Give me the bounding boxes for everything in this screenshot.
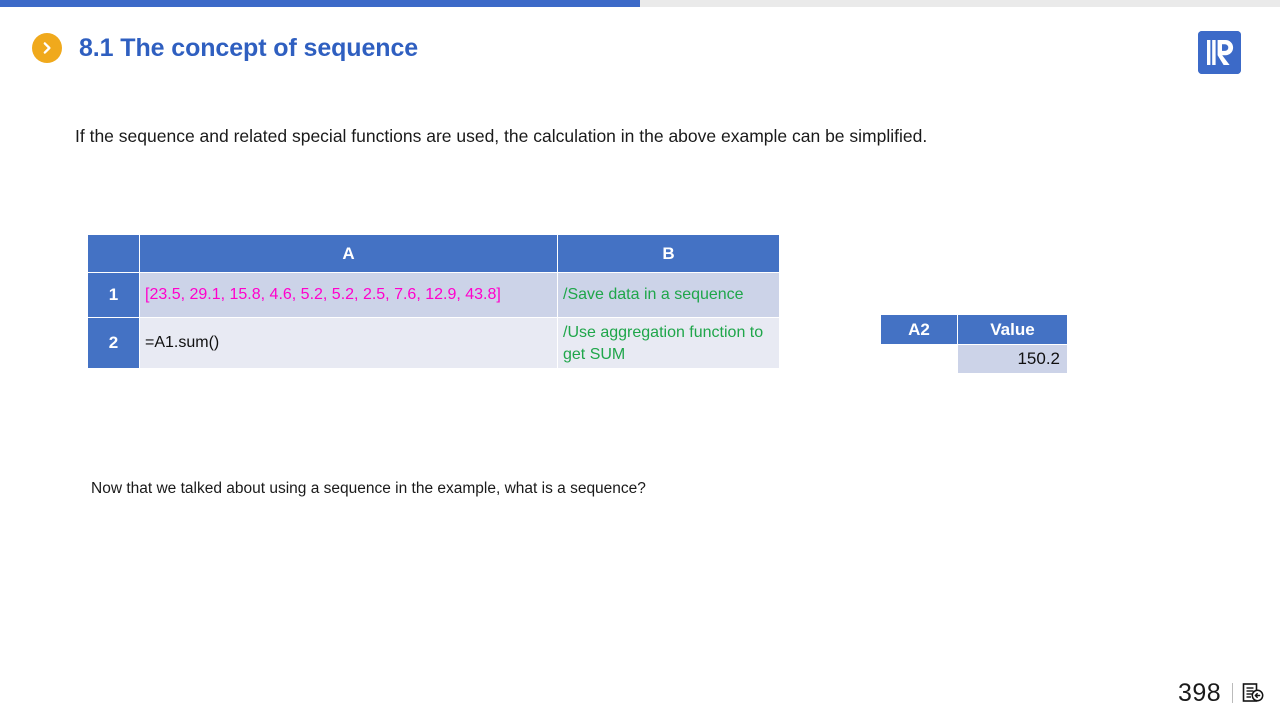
footer-divider (1232, 683, 1233, 703)
cell-b1-value: /Save data in a sequence (563, 286, 744, 303)
top-accent-bar-track (640, 0, 1280, 7)
table-header-row: A B (88, 235, 780, 273)
cell-a2-value: =A1.sum() (145, 334, 219, 351)
table-row: 1 [23.5, 29.1, 15.8, 4.6, 5.2, 5.2, 2.5,… (88, 273, 780, 318)
cell-b2-value: /Use aggregation function to get SUM (563, 321, 775, 365)
closing-paragraph: Now that we talked about using a sequenc… (91, 480, 646, 498)
top-accent-bar (0, 0, 1280, 7)
brand-logo-icon (1198, 31, 1241, 74)
intro-paragraph: If the sequence and related special func… (75, 126, 927, 147)
cell-a1-value: [23.5, 29.1, 15.8, 4.6, 5.2, 5.2, 2.5, 7… (145, 286, 501, 303)
code-table: A B 1 [23.5, 29.1, 15.8, 4.6, 5.2, 5.2, … (87, 234, 780, 369)
column-header-a[interactable]: A (140, 235, 558, 273)
footer: 398 (1178, 676, 1265, 710)
result-value-row: 150.2 (881, 345, 1068, 374)
result-table: A2 Value 150.2 (880, 314, 1068, 374)
result-value[interactable]: 150.2 (958, 345, 1068, 374)
document-back-icon[interactable] (1242, 682, 1265, 705)
chevron-right-icon (32, 33, 62, 63)
result-blank-cell (881, 345, 958, 374)
row-index-2[interactable]: 2 (88, 318, 140, 369)
top-accent-bar-filled (0, 0, 640, 7)
result-cell-name[interactable]: A2 (881, 315, 958, 345)
cell-a1[interactable]: [23.5, 29.1, 15.8, 4.6, 5.2, 5.2, 2.5, 7… (140, 273, 558, 318)
table-row: 2 =A1.sum() /Use aggregation function to… (88, 318, 780, 369)
page-number: 398 (1178, 679, 1221, 708)
cell-a2[interactable]: =A1.sum() (140, 318, 558, 369)
cell-b2[interactable]: /Use aggregation function to get SUM (558, 318, 780, 369)
column-header-corner[interactable] (88, 235, 140, 273)
result-header-row: A2 Value (881, 315, 1068, 345)
cell-b1[interactable]: /Save data in a sequence (558, 273, 780, 318)
result-value-header[interactable]: Value (958, 315, 1068, 345)
column-header-b[interactable]: B (558, 235, 780, 273)
page-title: 8.1 The concept of sequence (79, 34, 418, 63)
row-index-1[interactable]: 1 (88, 273, 140, 318)
slide-header: 8.1 The concept of sequence (32, 33, 418, 63)
